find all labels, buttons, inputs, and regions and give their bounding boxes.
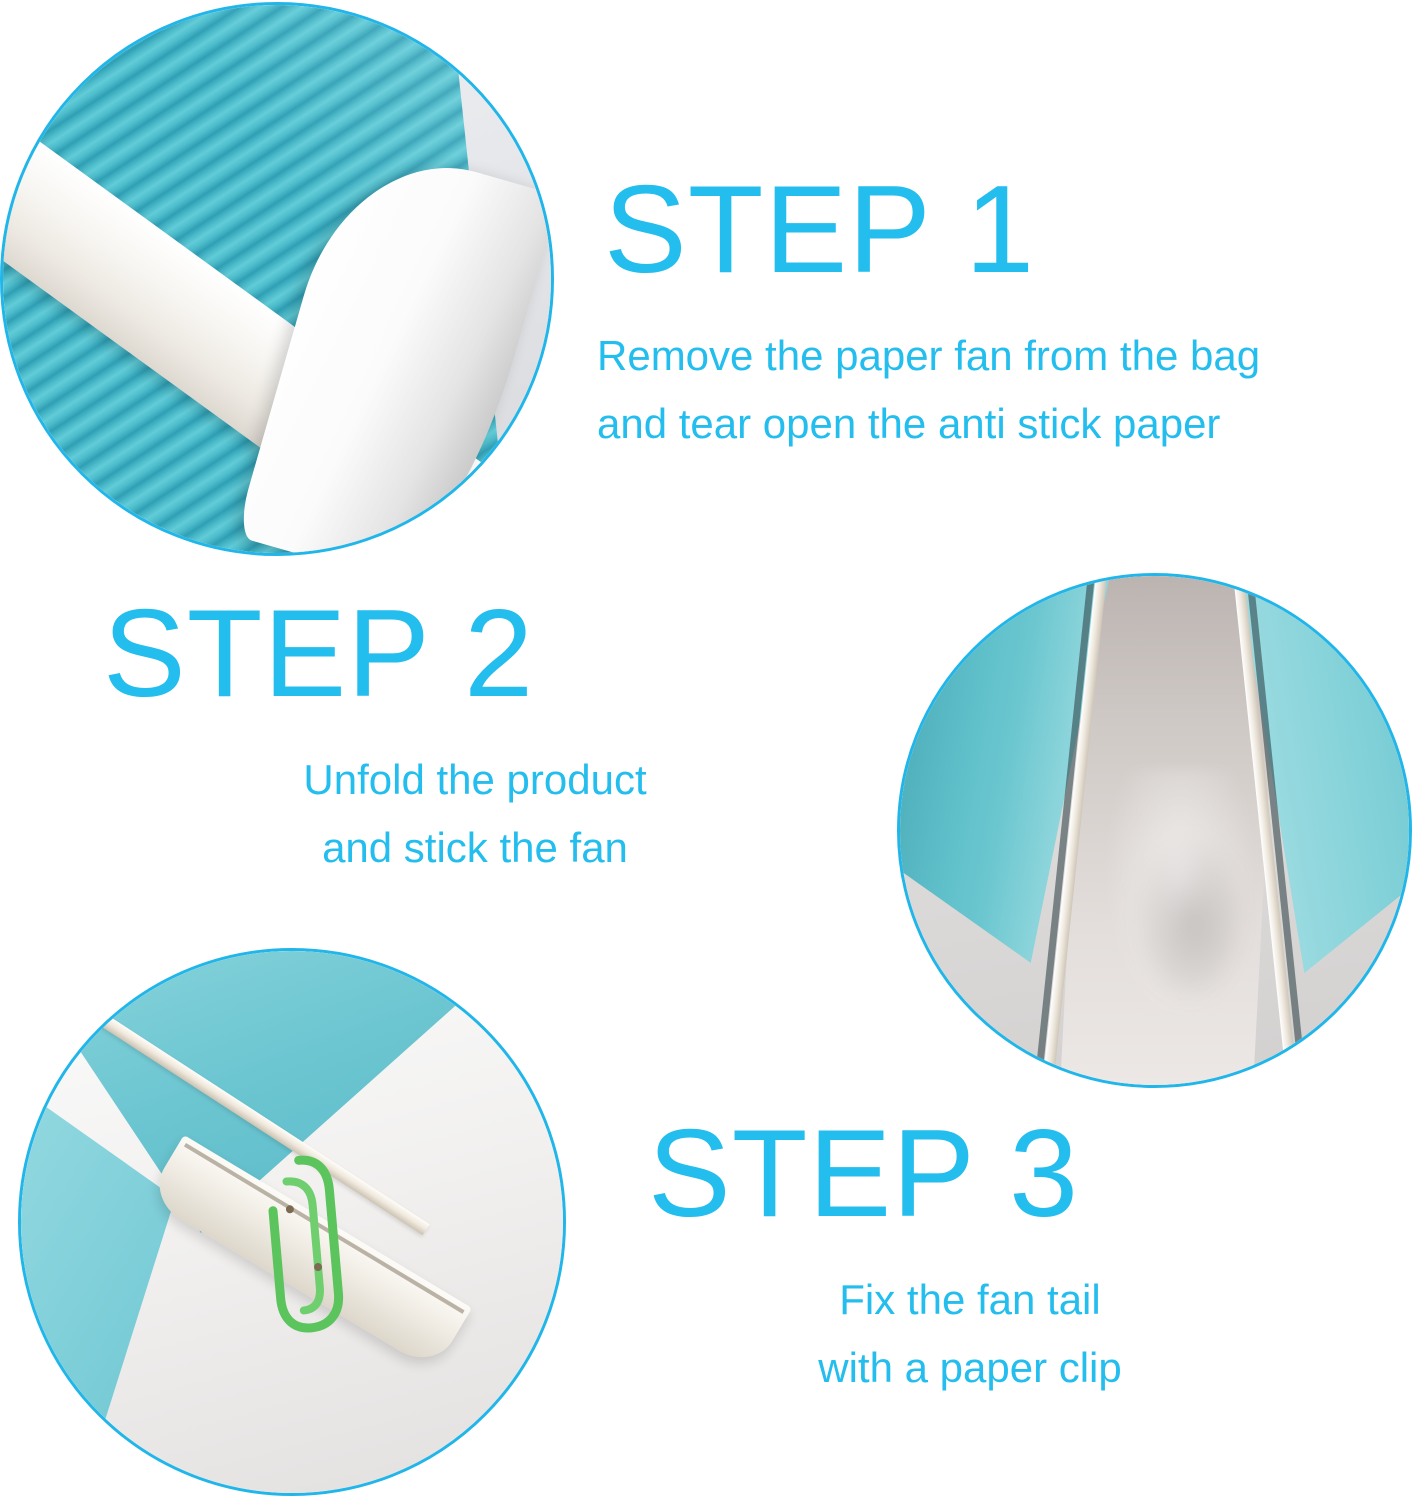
- step-2-body: Unfold the product and stick the fan: [225, 746, 725, 882]
- center-highlight: [1104, 769, 1257, 1024]
- step-2-body-line-1: Unfold the product: [225, 746, 725, 814]
- step-3-photo: [18, 948, 566, 1496]
- instruction-graphic: STEP 1 Remove the paper fan from the bag…: [0, 0, 1418, 1500]
- step-1-body-line-1: Remove the paper fan from the bag: [597, 322, 1260, 390]
- step-1-title: STEP 1: [604, 168, 1035, 292]
- step-1-body: Remove the paper fan from the bag and te…: [597, 322, 1260, 458]
- step-2-title: STEP 2: [103, 592, 534, 716]
- step-3-body-line-2: with a paper clip: [750, 1334, 1190, 1402]
- step-1-photo: [0, 2, 554, 556]
- step-1-photo-inner: [3, 5, 551, 553]
- step-2-body-line-2: and stick the fan: [225, 814, 725, 882]
- step-3-body-line-1: Fix the fan tail: [750, 1266, 1190, 1334]
- step-1-body-line-2: and tear open the anti stick paper: [597, 390, 1260, 458]
- step-2-photo: [897, 573, 1412, 1088]
- step-3-body: Fix the fan tail with a paper clip: [750, 1266, 1190, 1402]
- step-3-title: STEP 3: [648, 1112, 1079, 1236]
- step-3-photo-inner: [21, 951, 563, 1493]
- step-2-photo-inner: [900, 576, 1409, 1085]
